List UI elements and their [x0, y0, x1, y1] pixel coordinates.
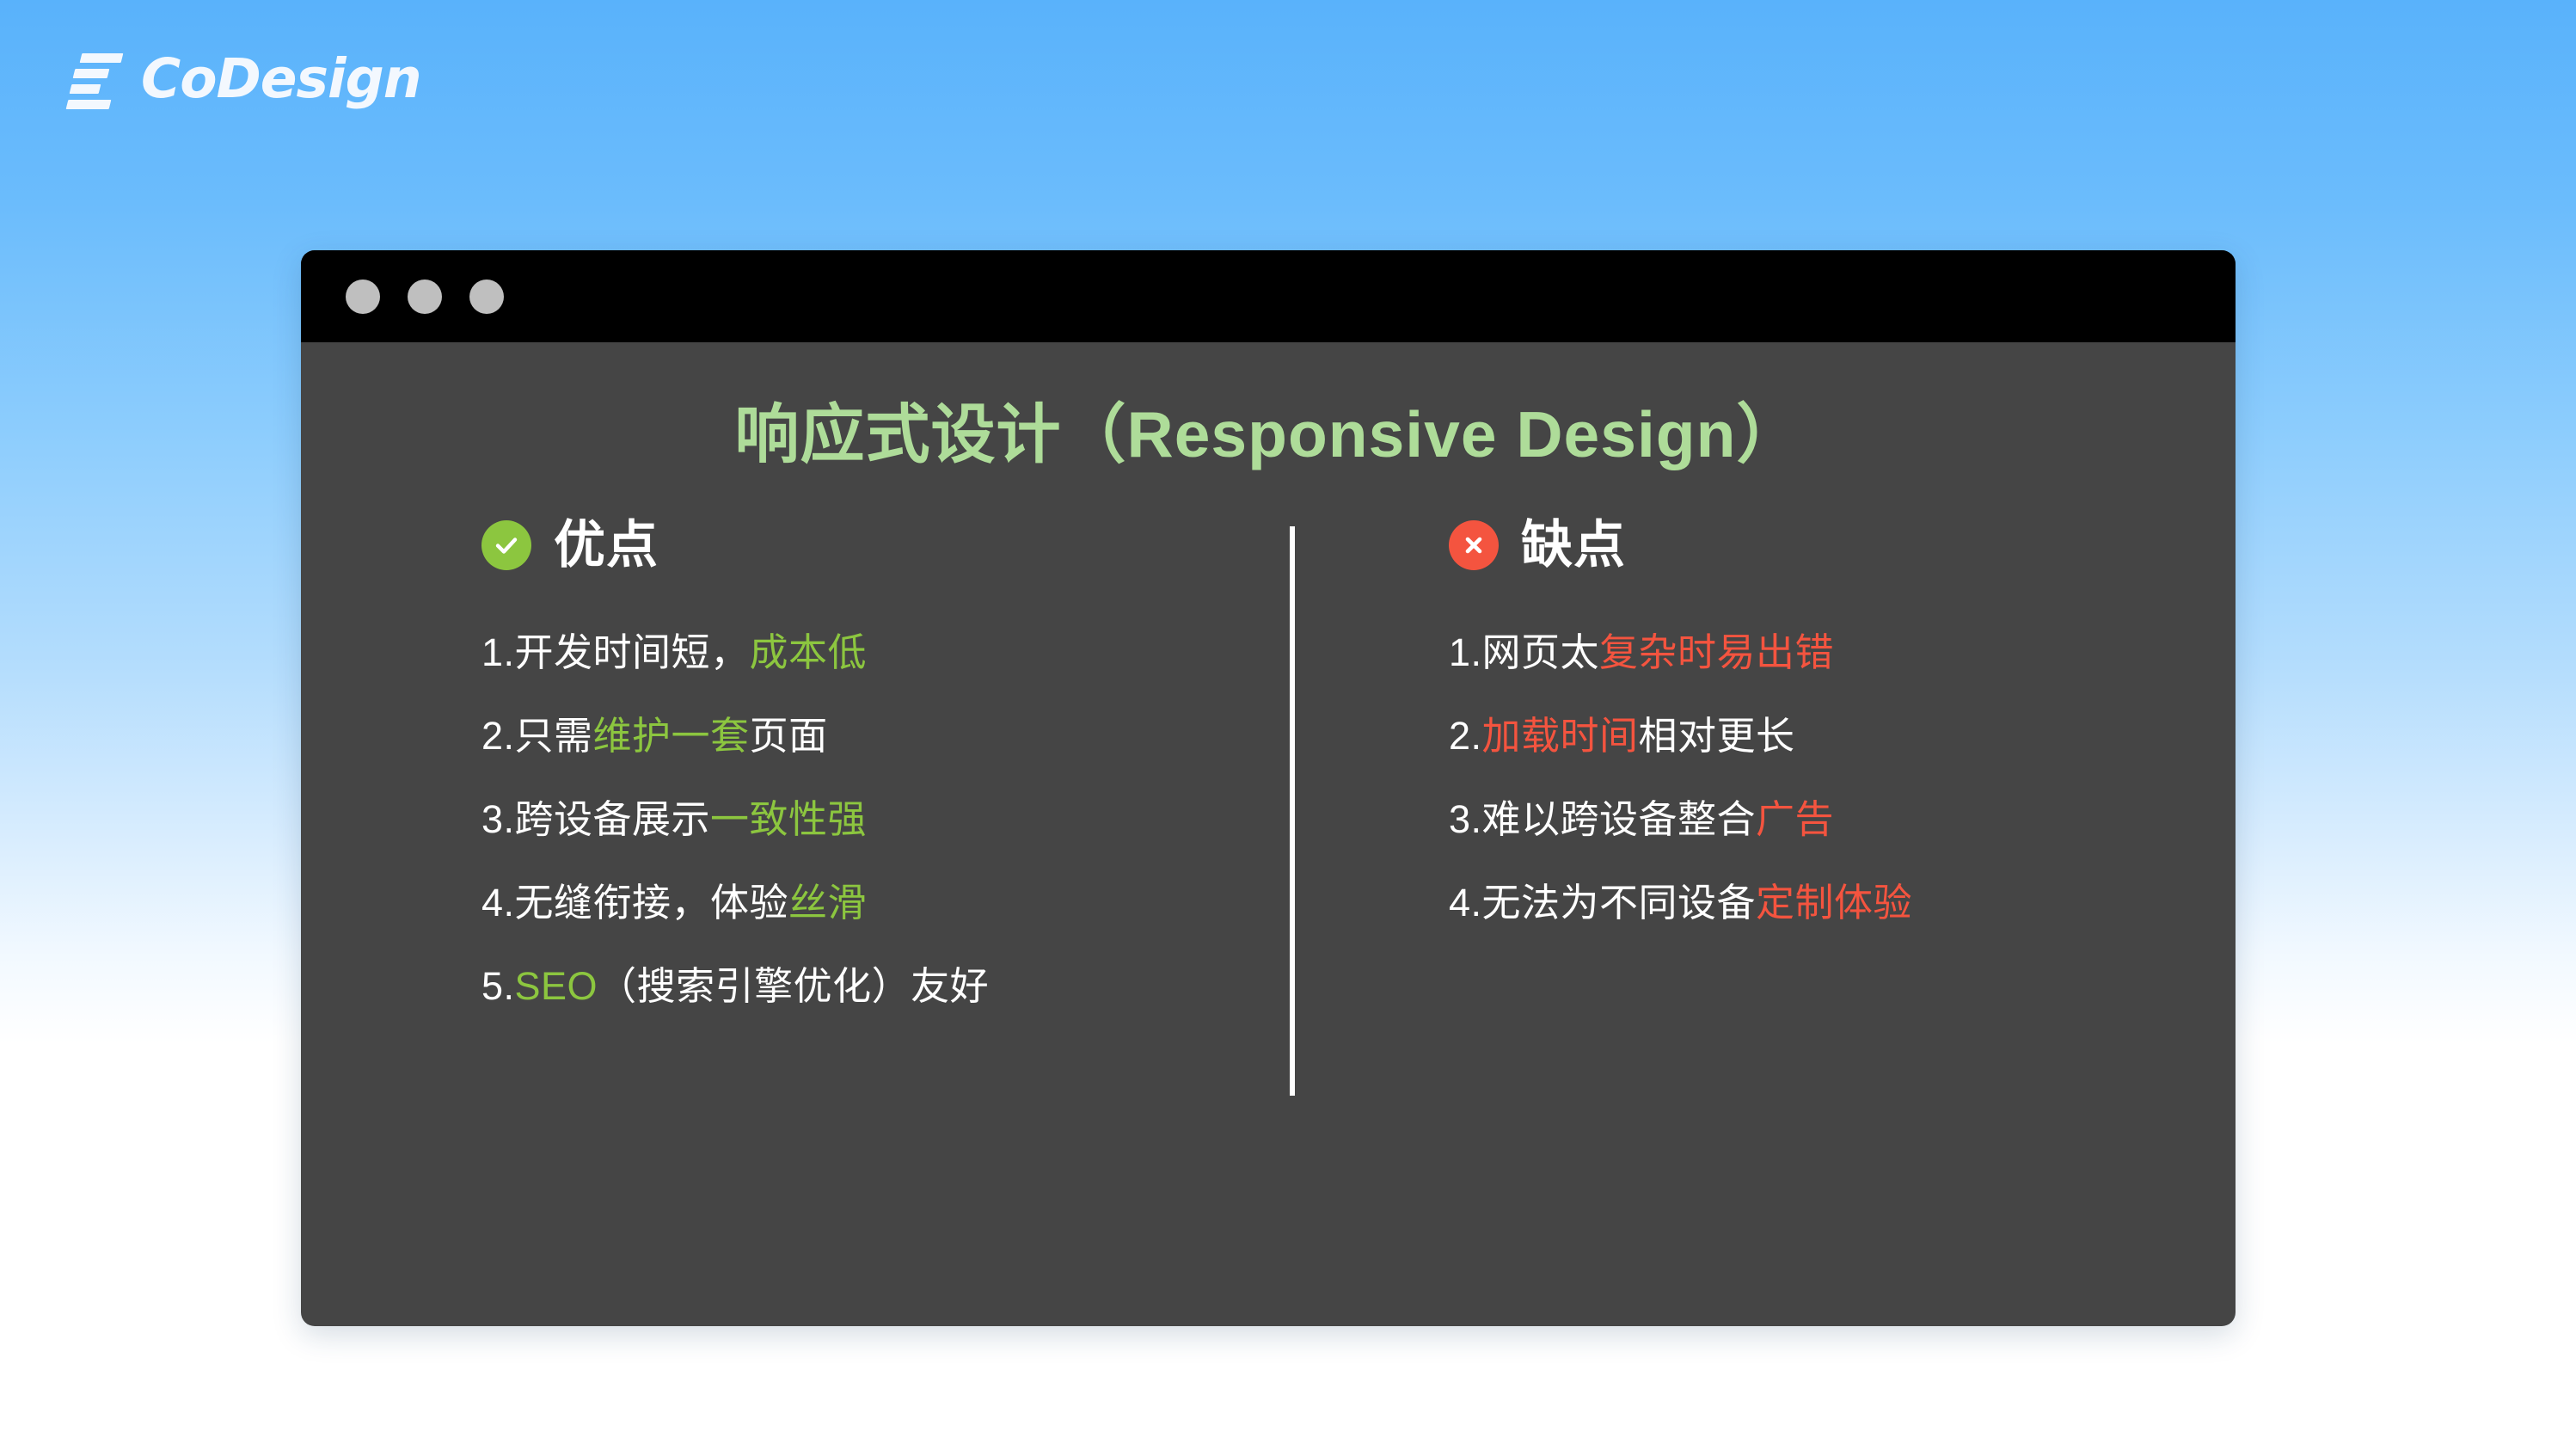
pros-item-number: 5. [481, 967, 515, 1005]
cons-item: 2. 加载时间相对更长 [1449, 716, 2184, 755]
cons-item: 3. 难以跨设备整合广告 [1449, 800, 2184, 839]
cons-highlight: 复杂时易出错 [1599, 630, 1834, 674]
cons-item-number: 4. [1449, 883, 1482, 922]
brand-logo: CoDesign [67, 50, 421, 107]
pros-item-text: 跨设备展示 [515, 797, 711, 841]
pros-item-text: 只需 [515, 714, 593, 758]
window-titlebar [301, 250, 2236, 342]
column-divider [1290, 526, 1295, 1096]
pros-item-number: 2. [481, 716, 515, 755]
pros-item: 4. 无缝衔接，体验丝滑 [481, 883, 1268, 922]
browser-window-card: 响应式设计（Responsive Design） 优点 1. 开发时间短，成本低… [301, 250, 2236, 1326]
pros-highlight: 成本低 [750, 630, 868, 674]
codesign-bars-logo-icon [67, 50, 122, 107]
cons-highlight: 广告 [1756, 797, 1834, 841]
pros-heading: 优点 [554, 519, 659, 571]
pros-highlight: 维护一套 [593, 714, 750, 758]
cons-list: 1. 网页太复杂时易出错2. 加载时间相对更长3. 难以跨设备整合广告4. 无法… [1449, 633, 2184, 922]
pros-column: 优点 1. 开发时间短，成本低2. 只需维护一套页面3. 跨设备展示一致性强4.… [353, 519, 1268, 1005]
pros-item: 3. 跨设备展示一致性强 [481, 800, 1268, 839]
comparison-columns: 优点 1. 开发时间短，成本低2. 只需维护一套页面3. 跨设备展示一致性强4.… [301, 519, 2236, 1005]
pros-item-text: 无缝衔接，体验 [515, 881, 789, 925]
pros-item: 2. 只需维护一套页面 [481, 716, 1268, 755]
cons-item: 1. 网页太复杂时易出错 [1449, 633, 2184, 672]
brand-name: CoDesign [141, 52, 421, 106]
pros-item: 1. 开发时间短，成本低 [481, 633, 1268, 672]
page-title: 响应式设计（Responsive Design） [301, 397, 2236, 471]
x-circle-icon [1449, 520, 1499, 570]
check-circle-icon [481, 520, 531, 570]
cons-item-number: 1. [1449, 633, 1482, 672]
pros-item-number: 4. [481, 883, 515, 922]
pros-item-number: 3. [481, 800, 515, 839]
window-dot-3[interactable] [469, 280, 504, 314]
cons-highlight: 定制体验 [1756, 881, 1912, 925]
cons-item-number: 2. [1449, 716, 1482, 755]
pros-list: 1. 开发时间短，成本低2. 只需维护一套页面3. 跨设备展示一致性强4. 无缝… [481, 633, 1268, 1005]
cons-item-number: 3. [1449, 800, 1482, 839]
pros-header: 优点 [481, 519, 1268, 571]
pros-item: 5. SEO（搜索引擎优化）友好 [481, 967, 1268, 1005]
window-dot-1[interactable] [346, 280, 380, 314]
cons-highlight: 加载时间 [1482, 714, 1639, 758]
cons-item-text: 网页太 [1482, 630, 1600, 674]
window-dot-2[interactable] [408, 280, 442, 314]
pros-item-text: （搜索引擎优化）友好 [598, 964, 989, 1008]
pros-highlight: 丝滑 [788, 881, 867, 925]
cons-column: 缺点 1. 网页太复杂时易出错2. 加载时间相对更长3. 难以跨设备整合广告4.… [1268, 519, 2184, 1005]
cons-item-text: 相对更长 [1639, 714, 1795, 758]
cons-item: 4. 无法为不同设备定制体验 [1449, 883, 2184, 922]
pros-highlight: SEO [515, 964, 598, 1008]
cons-item-text: 无法为不同设备 [1482, 881, 1757, 925]
pros-item-text: 页面 [750, 714, 828, 758]
cons-header: 缺点 [1449, 519, 2184, 571]
cons-item-text: 难以跨设备整合 [1482, 797, 1757, 841]
pros-highlight: 一致性强 [710, 797, 867, 841]
cons-heading: 缺点 [1521, 519, 1626, 571]
pros-item-text: 开发时间短， [515, 630, 750, 674]
pros-item-number: 1. [481, 633, 515, 672]
